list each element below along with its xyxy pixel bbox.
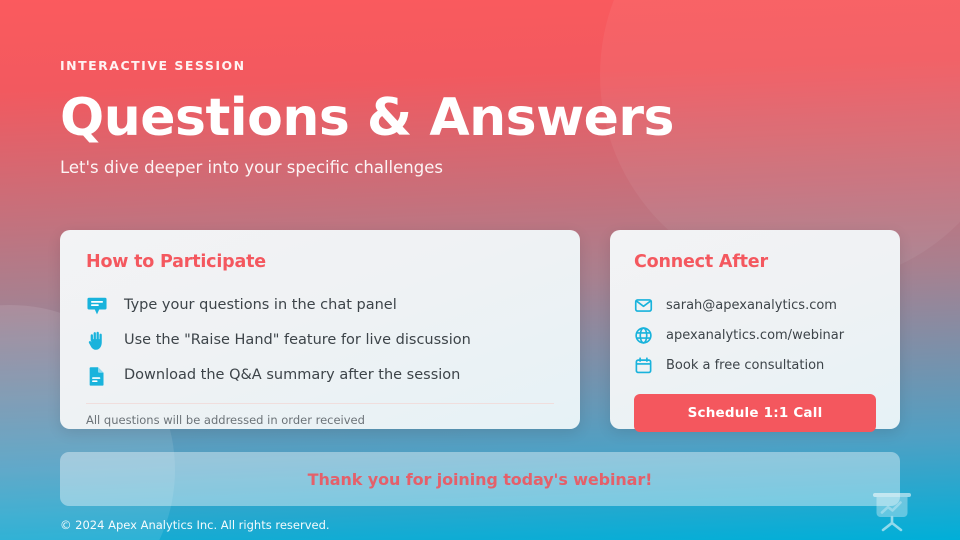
slide-canvas: INTERACTIVE SESSION Questions & Answers … [0, 0, 960, 540]
list-item-label: sarah@apexanalytics.com [666, 298, 837, 313]
participate-card: How to Participate Type your questions i… [60, 230, 580, 429]
slide-header: INTERACTIVE SESSION Questions & Answers … [60, 60, 760, 179]
chat-bubble-icon [86, 295, 108, 317]
cards-row: How to Participate Type your questions i… [60, 230, 900, 429]
list-item: Book a free consultation [634, 350, 876, 380]
list-item: sarah@apexanalytics.com [634, 290, 876, 320]
participate-note: All questions will be addressed in order… [86, 413, 554, 427]
connect-list: sarah@apexanalytics.com apexanalytics.co… [634, 290, 876, 380]
list-item-label: Type your questions in the chat panel [124, 297, 397, 314]
thank-you-banner: Thank you for joining today's webinar! [60, 452, 900, 506]
page-title: Questions & Answers [60, 91, 760, 146]
list-item-label: Book a free consultation [666, 358, 824, 373]
raised-hand-icon [86, 330, 108, 352]
globe-icon [634, 326, 653, 345]
card-divider [86, 403, 554, 404]
connect-card: Connect After sarah@apexanalytics.com [610, 230, 900, 429]
page-subtitle: Let's dive deeper into your specific cha… [60, 157, 760, 178]
list-item-label: Download the Q&A summary after the sessi… [124, 367, 460, 384]
participate-list: Type your questions in the chat panel Us… [86, 288, 554, 393]
list-item: Use the "Raise Hand" feature for live di… [86, 323, 554, 358]
copyright-text: © 2024 Apex Analytics Inc. All rights re… [60, 518, 330, 532]
list-item: Download the Q&A summary after the sessi… [86, 358, 554, 393]
thank-you-text: Thank you for joining today's webinar! [308, 470, 653, 489]
document-icon [86, 365, 108, 387]
connect-card-title: Connect After [634, 252, 876, 272]
list-item: apexanalytics.com/webinar [634, 320, 876, 350]
list-item-label: apexanalytics.com/webinar [666, 328, 844, 343]
list-item: Type your questions in the chat panel [86, 288, 554, 323]
participate-card-title: How to Participate [86, 252, 554, 272]
chart-presentation-icon [866, 486, 918, 536]
calendar-icon [634, 356, 653, 375]
eyebrow-label: INTERACTIVE SESSION [60, 60, 760, 73]
schedule-call-button[interactable]: Schedule 1:1 Call [634, 394, 876, 432]
envelope-icon [634, 296, 653, 315]
list-item-label: Use the "Raise Hand" feature for live di… [124, 332, 471, 349]
